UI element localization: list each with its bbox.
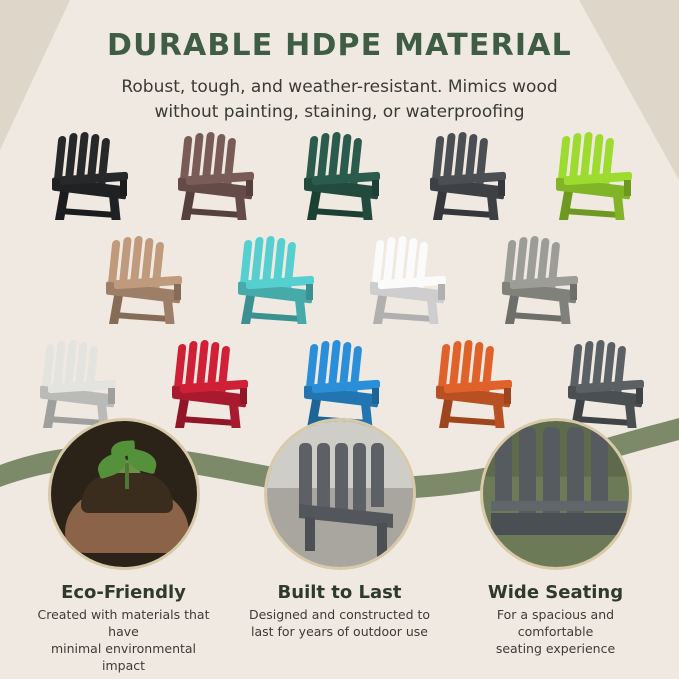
chair-arm-support: [438, 284, 445, 300]
chair-swatch-gray: [486, 234, 590, 330]
chair-slat: [317, 443, 330, 513]
wide-seat-icon: [483, 421, 629, 567]
chair-arm-support: [372, 388, 379, 404]
chair-illustration: [90, 234, 194, 330]
chair-leg: [305, 517, 315, 551]
chair-stretcher: [312, 208, 368, 218]
chair-color-grid: [0, 130, 679, 442]
chair-row-2: [0, 234, 679, 330]
chair-stretcher: [510, 312, 566, 322]
chair-arm-support: [246, 180, 253, 196]
feature-eco-friendly: Eco-Friendly Created with materials that…: [29, 418, 219, 675]
feature-wide-seating: Wide Seating For a spacious and comforta…: [461, 418, 651, 675]
chair-swatch-tan: [90, 234, 194, 330]
features-section: Eco-Friendly Created with materials that…: [0, 418, 679, 675]
chair-illustration: [354, 234, 458, 330]
built-to-last-image: [264, 418, 416, 570]
eco-friendly-image: [48, 418, 200, 570]
feature-desc-line-2: minimal environmental impact: [29, 641, 219, 675]
chair-arm-support: [636, 388, 643, 404]
chair-slat: [299, 443, 312, 507]
chair-slat: [353, 443, 366, 513]
chair-swatch-dark-gray: [414, 130, 518, 226]
feature-title: Built to Last: [245, 582, 435, 603]
chair-swatch-black: [36, 130, 140, 226]
stem-shape: [125, 463, 129, 489]
chair-stretcher: [246, 312, 302, 322]
chair-arm-support: [504, 388, 511, 404]
chair-stretcher: [438, 208, 494, 218]
chair-swatch-brown: [162, 130, 266, 226]
feature-desc-line-1: Designed and constructed to: [245, 607, 435, 624]
chair-row-1: [0, 130, 679, 226]
wide-seating-image: [480, 418, 632, 570]
header: DURABLE HDPE MATERIAL Robust, tough, and…: [0, 28, 679, 124]
chair-arm-support: [174, 284, 181, 300]
feature-built-to-last: Built to Last Designed and constructed t…: [245, 418, 435, 675]
chair-swatch-white: [354, 234, 458, 330]
chair-stretcher: [564, 208, 620, 218]
chair-arm-support: [570, 284, 577, 300]
chair-arm-support: [120, 180, 127, 196]
feature-description: Created with materials that have minimal…: [29, 607, 219, 675]
chair-arm-support: [240, 388, 247, 404]
feature-title: Eco-Friendly: [29, 582, 219, 603]
subtitle-line-2: without painting, staining, or waterproo…: [0, 100, 679, 125]
chair-arm-support: [306, 284, 313, 300]
feature-row: Eco-Friendly Created with materials that…: [0, 418, 679, 675]
feature-desc-line-1: For a spacious and comfortable: [461, 607, 651, 641]
chair-illustration: [36, 130, 140, 226]
feature-title: Wide Seating: [461, 582, 651, 603]
chair-illustration: [288, 130, 392, 226]
feature-description: For a spacious and comfortable seating e…: [461, 607, 651, 658]
chair-illustration: [486, 234, 590, 330]
chair-swatch-lime-green: [540, 130, 644, 226]
chair-slat: [591, 427, 608, 505]
chair-shape: [491, 427, 627, 567]
chair-illustration: [162, 130, 266, 226]
feature-desc-line-1: Created with materials that have: [29, 607, 219, 641]
chair-arm-support: [624, 180, 631, 196]
chair-arm: [491, 501, 627, 511]
feature-description: Designed and constructed to last for yea…: [245, 607, 435, 641]
chair-shape: [293, 443, 397, 553]
chair-leg: [377, 523, 387, 557]
chair-stretcher: [186, 208, 242, 218]
page-subtitle: Robust, tough, and weather-resistant. Mi…: [0, 75, 679, 124]
feature-desc-line-2: last for years of outdoor use: [245, 624, 435, 641]
chair-swatch-turquoise: [222, 234, 326, 330]
chair-slat: [335, 443, 348, 515]
feature-desc-line-2: seating experience: [461, 641, 651, 658]
chair-illustration: [222, 234, 326, 330]
chair-slat: [495, 427, 512, 505]
chair-stretcher: [378, 312, 434, 322]
gray-chair-icon: [267, 421, 413, 567]
chair-illustration: [540, 130, 644, 226]
eco-plant-icon: [51, 421, 197, 567]
page-title: DURABLE HDPE MATERIAL: [0, 28, 679, 63]
chair-swatch-dark-green: [288, 130, 392, 226]
chair-arm-support: [108, 388, 115, 404]
chair-stretcher: [114, 312, 170, 322]
chair-stretcher: [60, 208, 116, 218]
chair-arm-support: [498, 180, 505, 196]
chair-slat: [371, 443, 384, 507]
subtitle-line-1: Robust, tough, and weather-resistant. Mi…: [0, 75, 679, 100]
chair-seat: [491, 513, 627, 535]
chair-illustration: [414, 130, 518, 226]
chair-arm-support: [372, 180, 379, 196]
